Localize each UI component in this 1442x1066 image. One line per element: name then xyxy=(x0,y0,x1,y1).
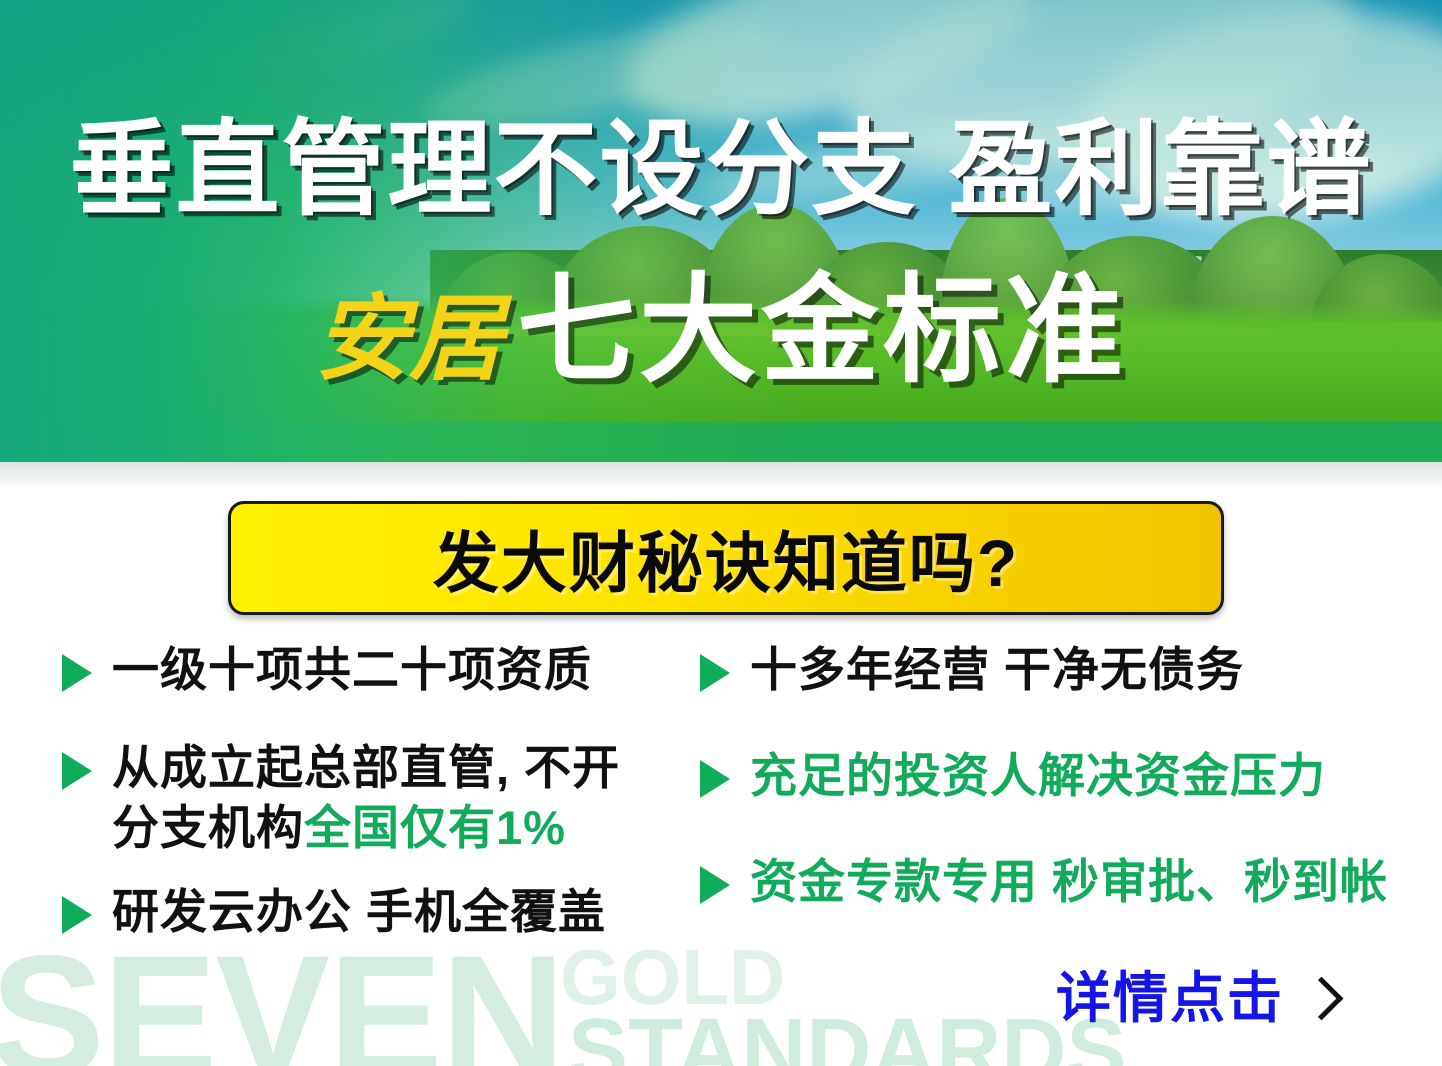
list-item-label: 从成立起总部直管, 不开 分支机构全国仅有1% xyxy=(112,738,620,858)
list-item: 研发云办公 手机全覆盖 xyxy=(62,882,682,942)
green-triangle-icon xyxy=(62,896,92,934)
list-item: 十多年经营 干净无债务 xyxy=(700,640,1410,700)
hero-banner: 垂直管理不设分支 盈利靠谱 安居七大金标准 xyxy=(0,0,1442,462)
green-triangle-icon xyxy=(700,760,730,798)
green-triangle-icon xyxy=(700,654,730,692)
chevron-right-icon xyxy=(1300,976,1344,1020)
list-item: 一级十项共二十项资质 xyxy=(62,640,682,700)
list-item-line2-emphasis: 全国仅有1% xyxy=(304,801,566,854)
list-item: 充足的投资人解决资金压力 xyxy=(700,746,1410,806)
list-item-line1: 从成立起总部直管, 不开 xyxy=(112,741,620,794)
list-item-label: 十多年经营 干净无债务 xyxy=(750,640,1244,700)
details-cta-label: 详情点击 xyxy=(1056,968,1284,1028)
green-triangle-icon xyxy=(62,752,92,790)
list-item-label: 资金专款专用 秒审批、秒到帐 xyxy=(750,852,1388,912)
list-item-label: 充足的投资人解决资金压力 xyxy=(750,746,1326,806)
green-triangle-icon xyxy=(62,654,92,692)
list-item: 资金专款专用 秒审批、秒到帐 xyxy=(700,852,1410,912)
hero-headline-brand: 安居 xyxy=(315,286,517,391)
list-item-label: 一级十项共二十项资质 xyxy=(112,640,592,700)
details-cta-button[interactable]: 详情点击 xyxy=(1056,968,1337,1028)
hero-headline-slogan: 七大金标准 xyxy=(517,265,1127,397)
list-item: 从成立起总部直管, 不开 分支机构全国仅有1% xyxy=(62,738,682,858)
hero-bottom-shadow xyxy=(0,462,1442,488)
highlight-banner[interactable]: 发大财秘诀知道吗? xyxy=(228,501,1224,615)
hero-headline-primary: 垂直管理不设分支 盈利靠谱 xyxy=(0,118,1442,222)
highlight-banner-text: 发大财秘诀知道吗? xyxy=(433,510,1019,606)
list-item-line2-plain: 分支机构 xyxy=(112,801,304,854)
feature-column-right: 十多年经营 干净无债务 充足的投资人解决资金压力 资金专款专用 秒审批、秒到帐 xyxy=(700,640,1410,946)
green-triangle-icon xyxy=(700,866,730,904)
list-item-label: 研发云办公 手机全覆盖 xyxy=(112,882,606,942)
hero-headline-secondary: 安居七大金标准 xyxy=(0,272,1442,398)
feature-column-left: 一级十项共二十项资质 从成立起总部直管, 不开 分支机构全国仅有1% 研发云办公… xyxy=(62,640,682,976)
advertisement-poster: 垂直管理不设分支 盈利靠谱 安居七大金标准 发大财秘诀知道吗? SEVEN GO… xyxy=(0,0,1442,1066)
